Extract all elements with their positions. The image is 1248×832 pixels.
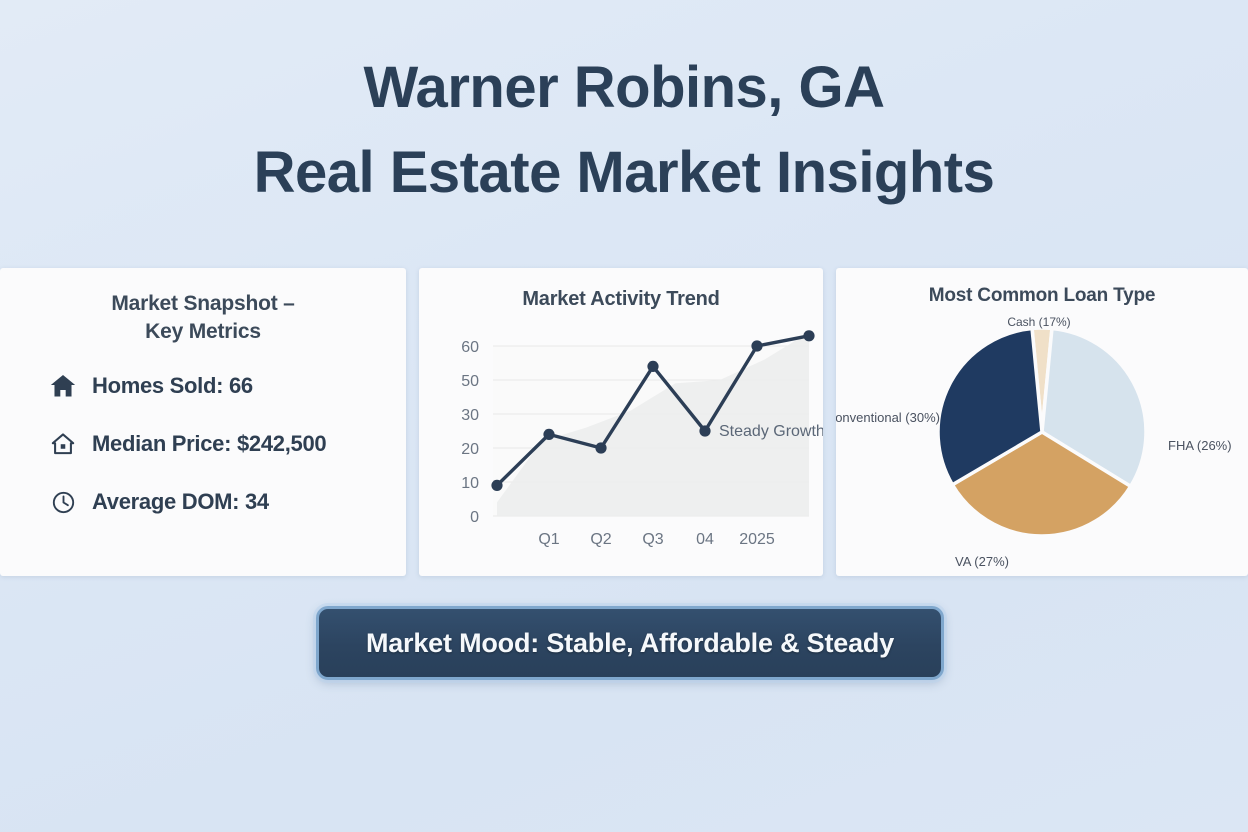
svg-text:Q1: Q1 — [538, 531, 559, 548]
market-snapshot-title-line-1: Market Snapshot – — [0, 290, 406, 318]
market-snapshot-card: Market Snapshot – Key Metrics Homes Sold… — [0, 268, 406, 576]
market-snapshot-title: Market Snapshot – Key Metrics — [0, 268, 406, 345]
loan-type-title: Most Common Loan Type — [836, 268, 1248, 307]
loan-type-card: Most Common Loan Type Cash (17%)FHA (26%… — [836, 268, 1248, 576]
svg-text:50: 50 — [461, 373, 479, 390]
svg-text:0: 0 — [470, 509, 479, 526]
metric-label-median-price: Median Price: $242,500 — [92, 431, 326, 457]
line-chart: 01020305060Q1Q2Q3042025Steady Growth — [419, 324, 823, 574]
svg-text:2025: 2025 — [739, 531, 775, 548]
home-filled-icon — [48, 371, 78, 401]
home-outline-icon — [48, 429, 78, 459]
svg-text:Conventional (30%): Conventional (30%) — [836, 410, 940, 425]
metric-label-homes-sold: Homes Sold: 66 — [92, 373, 253, 399]
svg-text:Steady Growth: Steady Growth — [719, 423, 823, 440]
metric-row-median-price: Median Price: $242,500 — [48, 429, 406, 459]
svg-text:FHA (26%): FHA (26%) — [1168, 438, 1232, 453]
metric-label-average-dom: Average DOM: 34 — [92, 489, 269, 515]
svg-text:60: 60 — [461, 339, 479, 356]
title-line-subject: Real Estate Market Insights — [0, 143, 1248, 202]
svg-text:Cash (17%): Cash (17%) — [1007, 315, 1070, 329]
svg-text:30: 30 — [461, 407, 479, 424]
svg-text:Q2: Q2 — [590, 531, 611, 548]
market-activity-trend-card: Market Activity Trend 01020305060Q1Q2Q30… — [419, 268, 823, 576]
svg-text:04: 04 — [696, 531, 714, 548]
market-snapshot-title-line-2: Key Metrics — [0, 318, 406, 346]
cards-row: Market Snapshot – Key Metrics Homes Sold… — [0, 268, 1248, 576]
metric-row-homes-sold: Homes Sold: 66 — [48, 371, 406, 401]
clock-icon — [48, 487, 78, 517]
svg-text:Q3: Q3 — [642, 531, 663, 548]
market-mood-banner: Market Mood: Stable, Affordable & Steady — [316, 606, 944, 680]
svg-text:10: 10 — [461, 475, 479, 492]
page-title: Warner Robins, GA Real Estate Market Ins… — [0, 0, 1248, 202]
svg-text:VA (27%): VA (27%) — [955, 554, 1009, 569]
metrics-list: Homes Sold: 66 Median Price: $242,500 — [0, 371, 406, 517]
market-mood-label: Market Mood: Stable, Affordable & Steady — [366, 628, 894, 659]
metric-row-average-dom: Average DOM: 34 — [48, 487, 406, 517]
market-activity-trend-title: Market Activity Trend — [419, 268, 823, 311]
svg-text:20: 20 — [461, 441, 479, 458]
title-line-city: Warner Robins, GA — [0, 58, 1248, 117]
pie-chart: Cash (17%)FHA (26%)VA (27%)Conventional … — [836, 310, 1248, 570]
